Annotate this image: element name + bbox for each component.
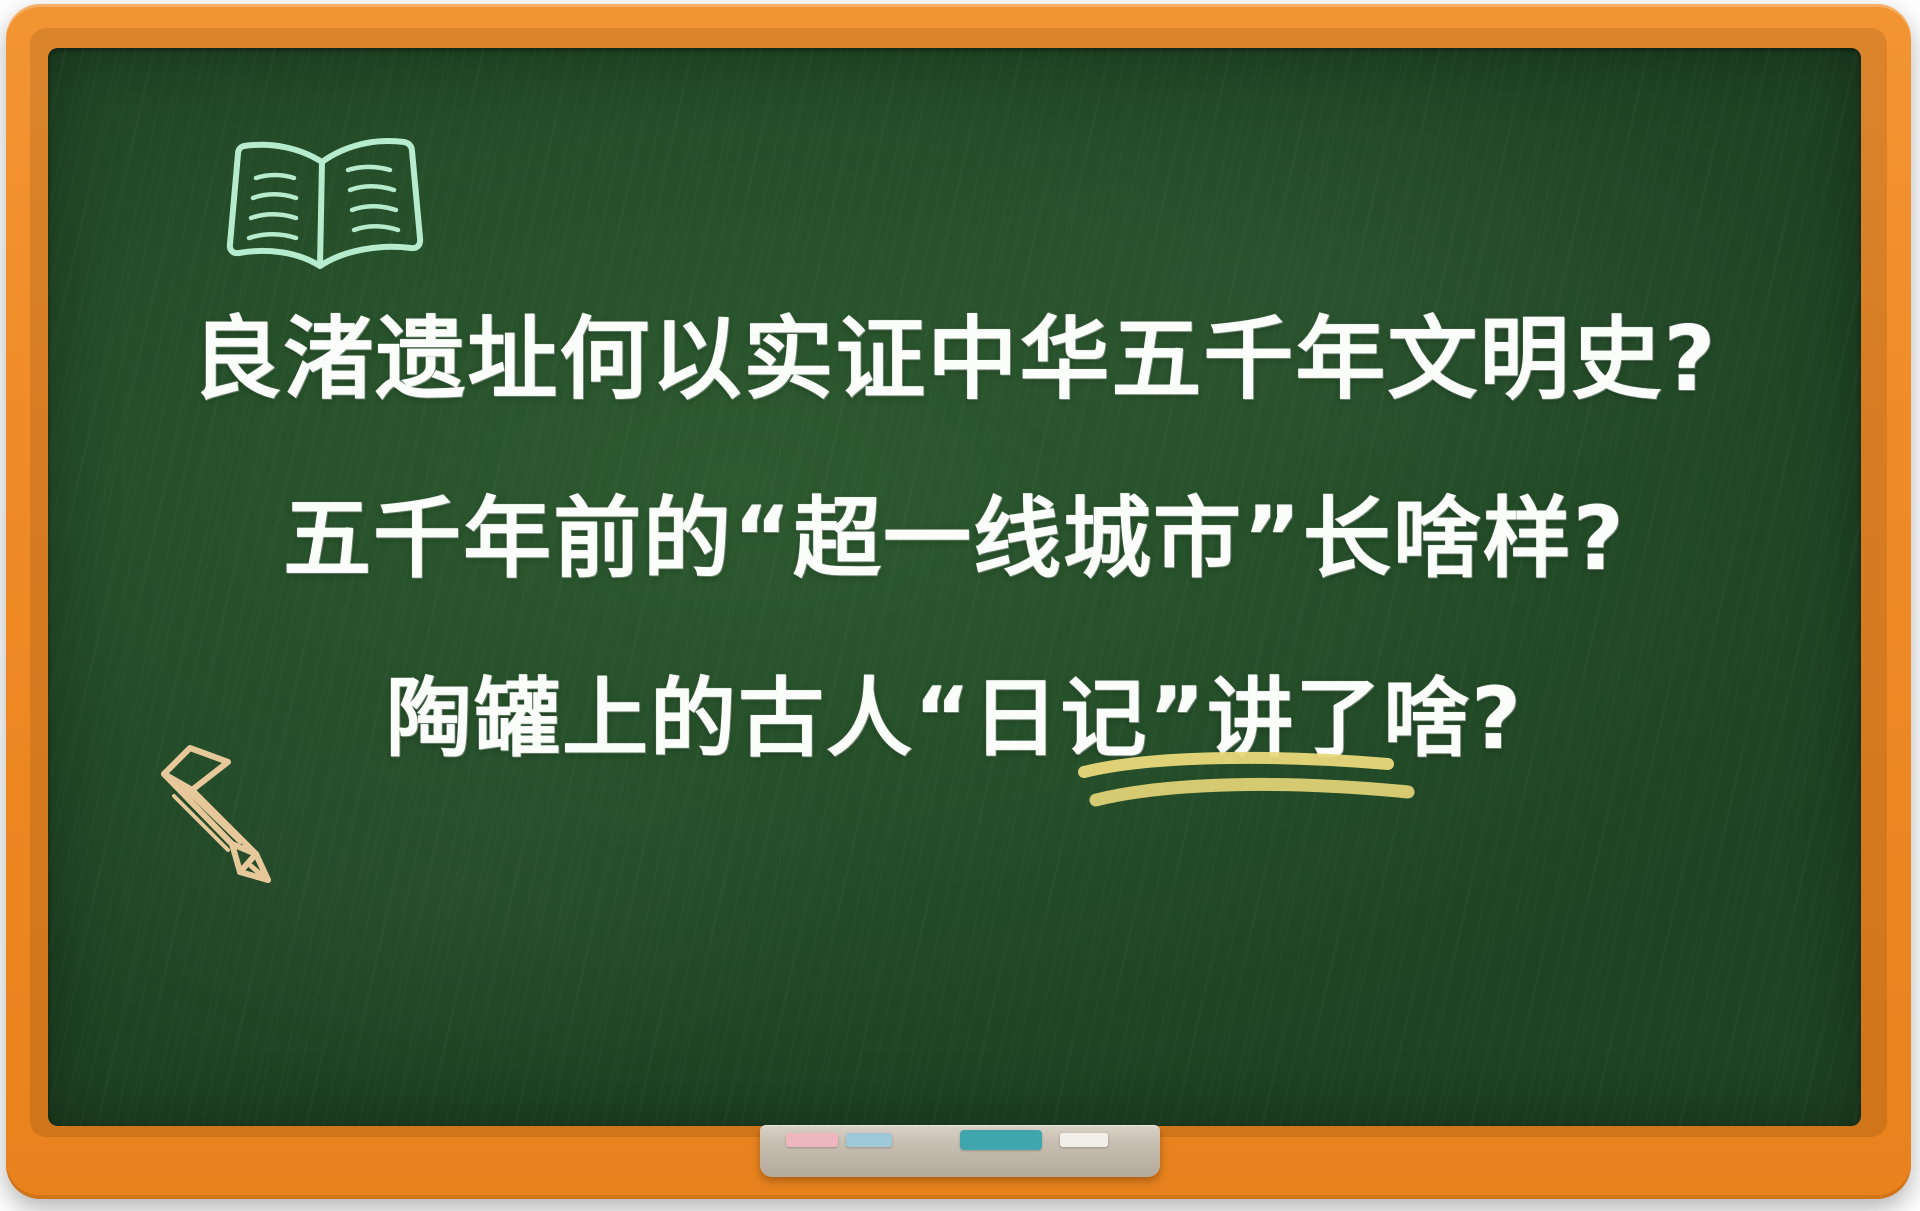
white-chalk-stick[interactable] bbox=[1060, 1133, 1108, 1147]
board-eraser[interactable] bbox=[960, 1130, 1042, 1150]
chalkboard-text-block: 良渚遗址何以实证中华五千年文明史? 五千年前的“超一线城市”长啥样? 陶罐上的古… bbox=[48, 48, 1861, 1126]
blue-chalk-stick[interactable] bbox=[846, 1133, 892, 1147]
headline-question-2: 五千年前的“超一线城市”长啥样? bbox=[48, 468, 1861, 595]
underline-squiggle-icon bbox=[1078, 748, 1428, 828]
pink-chalk-stick[interactable] bbox=[786, 1133, 838, 1147]
screenshot-root: 良渚遗址何以实证中华五千年文明史? 五千年前的“超一线城市”长啥样? 陶罐上的古… bbox=[0, 0, 1920, 1211]
headline-question-1: 良渚遗址何以实证中华五千年文明史? bbox=[48, 286, 1861, 416]
chalkboard-surface: 良渚遗址何以实证中华五千年文明史? 五千年前的“超一线城市”长啥样? 陶罐上的古… bbox=[48, 48, 1861, 1126]
chalk-tray bbox=[760, 1125, 1160, 1177]
pencil-icon bbox=[156, 738, 326, 898]
